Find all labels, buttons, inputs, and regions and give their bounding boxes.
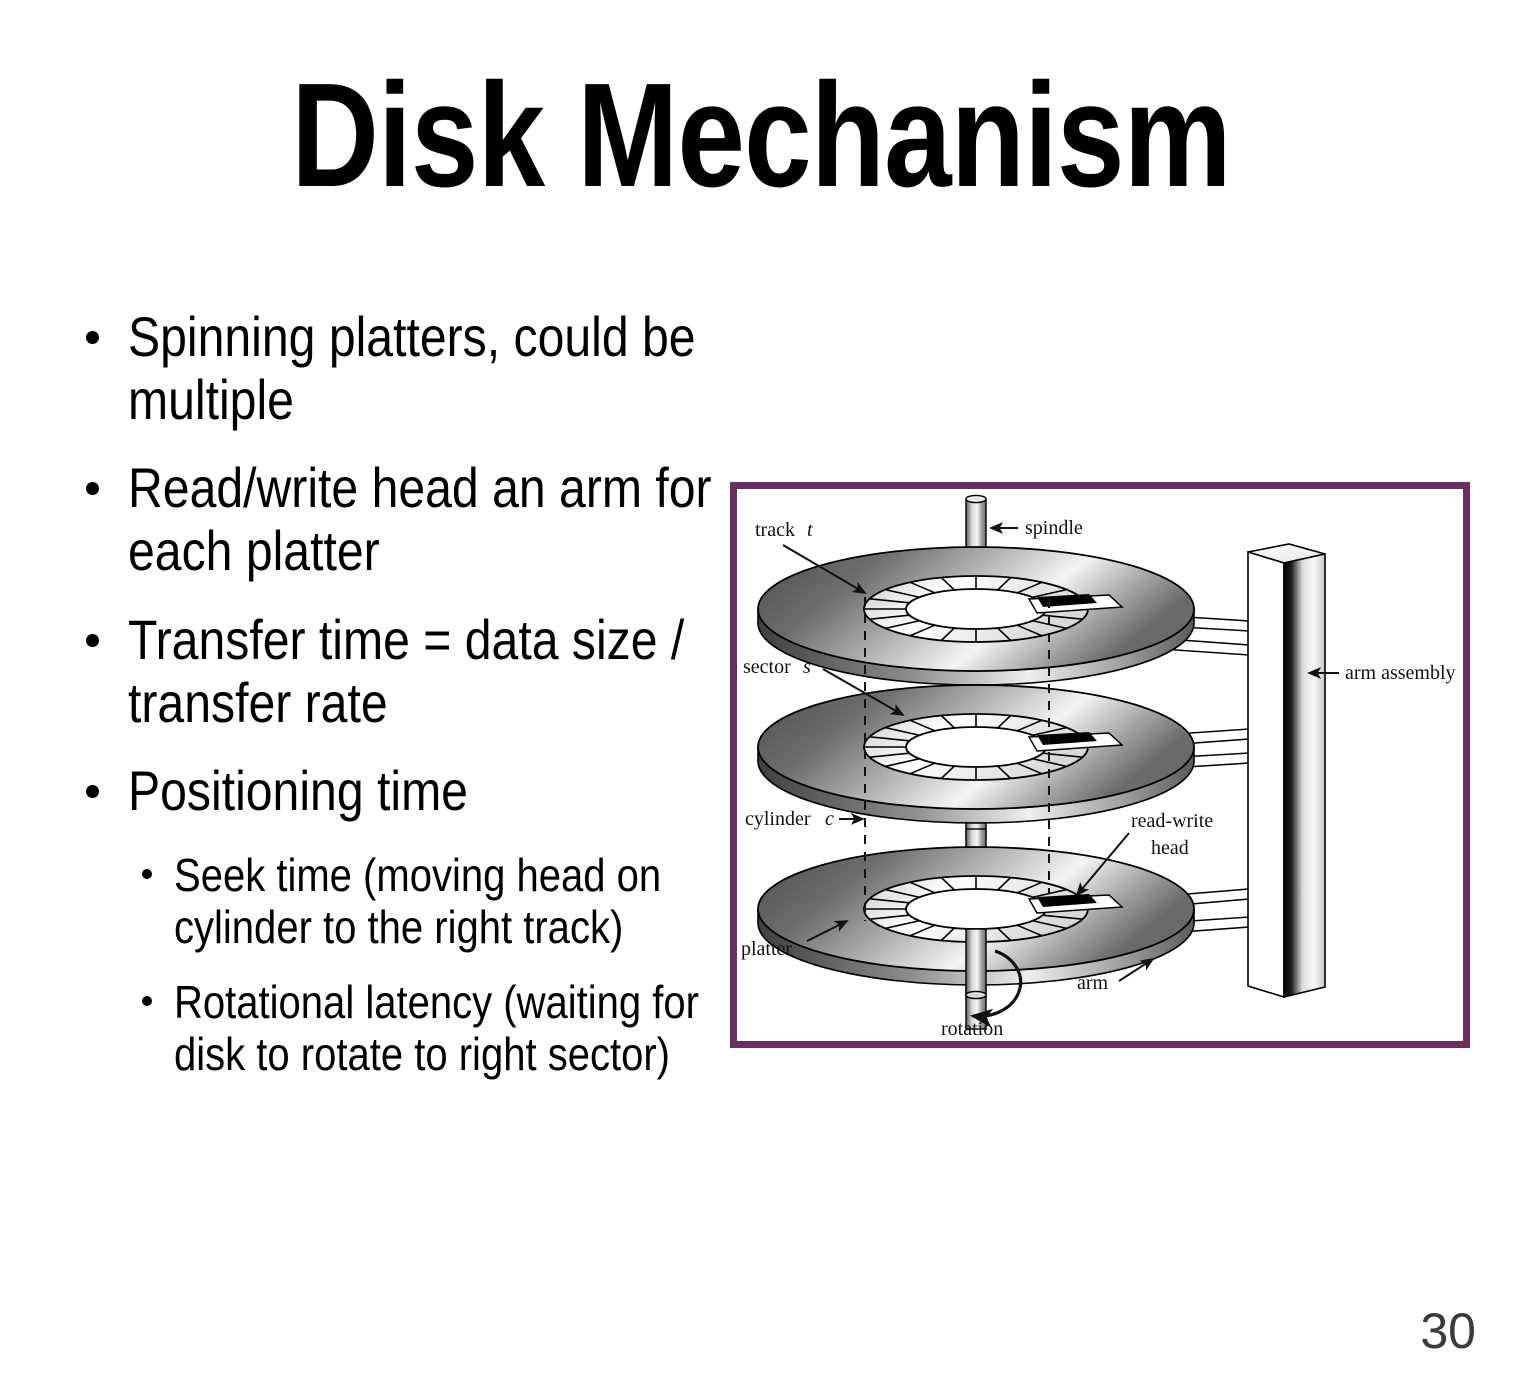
- bullet-list: Spinning platters, could be multiple Rea…: [70, 306, 730, 1103]
- page-number: 30: [1420, 1302, 1476, 1360]
- arm-assembly-column: [1248, 544, 1325, 997]
- label-rw-head-line1: read-write: [1131, 810, 1213, 832]
- label-rotation-text: rotation: [941, 1018, 1003, 1040]
- bullet-dot-icon: [86, 785, 99, 798]
- bullet-dot-icon: [142, 996, 152, 1006]
- platter-middle: [758, 685, 1194, 823]
- disk-mechanism-figure: track t spindle sector s cylinder c read…: [730, 482, 1470, 1048]
- list-item: Seek time (moving head on cylinder to th…: [130, 849, 730, 954]
- list-item: Spinning platters, could be multiple: [70, 306, 730, 431]
- list-item: Transfer time = data size / transfer rat…: [70, 609, 730, 734]
- label-sector-text: sector: [743, 656, 791, 678]
- label-spindle: spindle: [991, 517, 1083, 539]
- label-cylinder-var: c: [825, 808, 834, 830]
- page-title: Disk Mechanism: [137, 62, 1385, 210]
- label-rw-head-line2: head: [1151, 837, 1189, 859]
- label-sector-var: s: [803, 656, 811, 678]
- bullet-dot-icon: [86, 482, 99, 495]
- label-spindle-text: spindle: [1025, 517, 1083, 539]
- label-platter-text: platter: [741, 938, 792, 960]
- list-item-label: Read/write head an arm for each platter: [128, 457, 729, 582]
- list-item: Positioning time: [70, 760, 730, 823]
- list-item-label: Transfer time = data size / transfer rat…: [128, 609, 729, 734]
- label-arm-assembly-text: arm assembly: [1345, 662, 1456, 684]
- label-track-text: track: [755, 519, 795, 541]
- list-item: Rotational latency (waiting for disk to …: [130, 976, 730, 1081]
- list-item: Read/write head an arm for each platter: [70, 457, 730, 582]
- list-item-label: Seek time (moving head on cylinder to th…: [174, 849, 730, 954]
- sub-bullet-list: Seek time (moving head on cylinder to th…: [130, 849, 730, 1081]
- label-arm-assembly: arm assembly: [1309, 662, 1456, 684]
- bullet-dot-icon: [142, 869, 152, 879]
- bullet-dot-icon: [86, 331, 99, 344]
- label-track-var: t: [807, 519, 813, 541]
- label-cylinder-text: cylinder: [745, 808, 811, 830]
- disk-mechanism-svg: track t spindle sector s cylinder c read…: [737, 489, 1463, 1041]
- list-item-label: Spinning platters, could be multiple: [128, 306, 729, 431]
- list-item-label: Positioning time: [128, 760, 729, 823]
- label-arm-text: arm: [1077, 972, 1109, 994]
- list-item-label: Rotational latency (waiting for disk to …: [174, 976, 730, 1081]
- spindle-stub: [966, 929, 986, 999]
- bullet-dot-icon: [86, 634, 99, 647]
